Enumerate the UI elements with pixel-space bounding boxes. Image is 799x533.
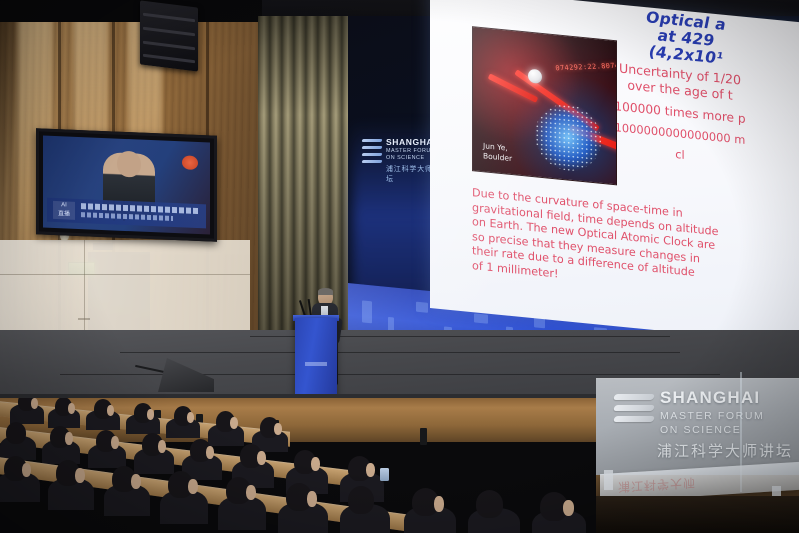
screen-glare: [430, 0, 799, 347]
backdrop-logo-line3: ON SCIENCE: [386, 155, 425, 161]
projection-screen: Optical a at 429 (4,2x10¹ Uncertainty of…: [430, 0, 799, 355]
forum-sign-line-4: 浦江科学大师讲坛: [657, 440, 793, 461]
podium: [295, 318, 337, 396]
monitor-caption-line-2: [81, 212, 173, 221]
lower-right-shadow: [596, 496, 799, 533]
audience-area: [0, 398, 620, 533]
presentation-slide: Optical a at 429 (4,2x10¹ Uncertainty of…: [430, 0, 799, 347]
monitor-lower-third: AI 直播: [47, 198, 206, 229]
monitor-speaker-head: [117, 151, 141, 178]
monitor-badge-line-2: 直播: [53, 210, 75, 220]
podium-lower-mark: [305, 362, 327, 366]
forum-sign-line-3: ON SCIENCE: [660, 424, 741, 436]
broadcast-monitor: AI 直播: [36, 128, 217, 242]
rail-reflection-text: 浦江科学大师: [618, 474, 696, 496]
monitor-badge: AI 直播: [53, 201, 75, 220]
monitor-picture: AI 直播: [43, 136, 210, 235]
stage-curtain-shading: [258, 16, 354, 346]
broadcast-logo-icon: [182, 155, 198, 170]
auditorium-photo: SHANGHAI MASTER FORUM ON SCIENCE 浦江科学大师讲…: [0, 0, 799, 533]
wave-mark-icon: [362, 139, 382, 165]
speaker-hair: [318, 288, 333, 295]
backdrop-logo-line1: SHANGHAI: [386, 137, 436, 147]
backdrop-logo-line2: MASTER FORUM: [386, 148, 436, 154]
line-array-speaker-icon: [140, 0, 198, 71]
forum-sign-line-2: MASTER FORUM: [660, 410, 764, 422]
forum-sign-wave-icon: [614, 392, 654, 432]
forum-sign-line-1: SHANGHAI: [660, 388, 760, 408]
